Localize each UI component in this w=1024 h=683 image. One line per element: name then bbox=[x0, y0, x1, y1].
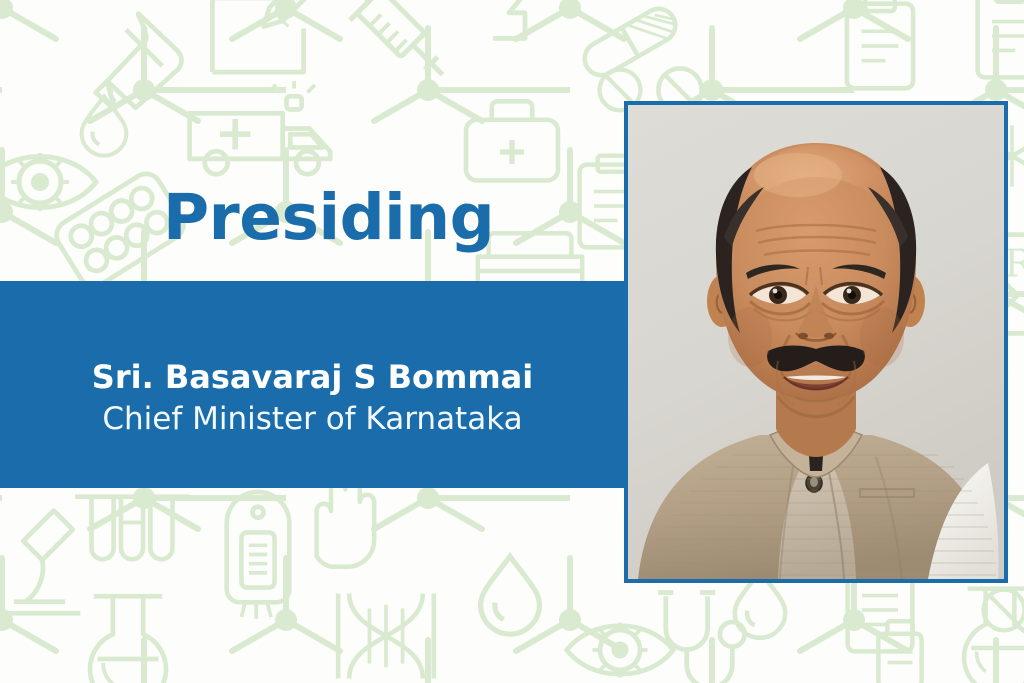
name-banner: Sri. Basavaraj S Bommai Chief Minister o… bbox=[0, 281, 625, 488]
poster-card: Rx bbox=[0, 0, 1024, 683]
portrait-frame bbox=[624, 101, 1008, 583]
person-role: Chief Minister of Karnataka bbox=[102, 401, 522, 438]
person-name: Sri. Basavaraj S Bommai bbox=[92, 359, 533, 397]
page-title: Presiding bbox=[163, 186, 494, 249]
portrait-photo bbox=[628, 105, 1004, 579]
